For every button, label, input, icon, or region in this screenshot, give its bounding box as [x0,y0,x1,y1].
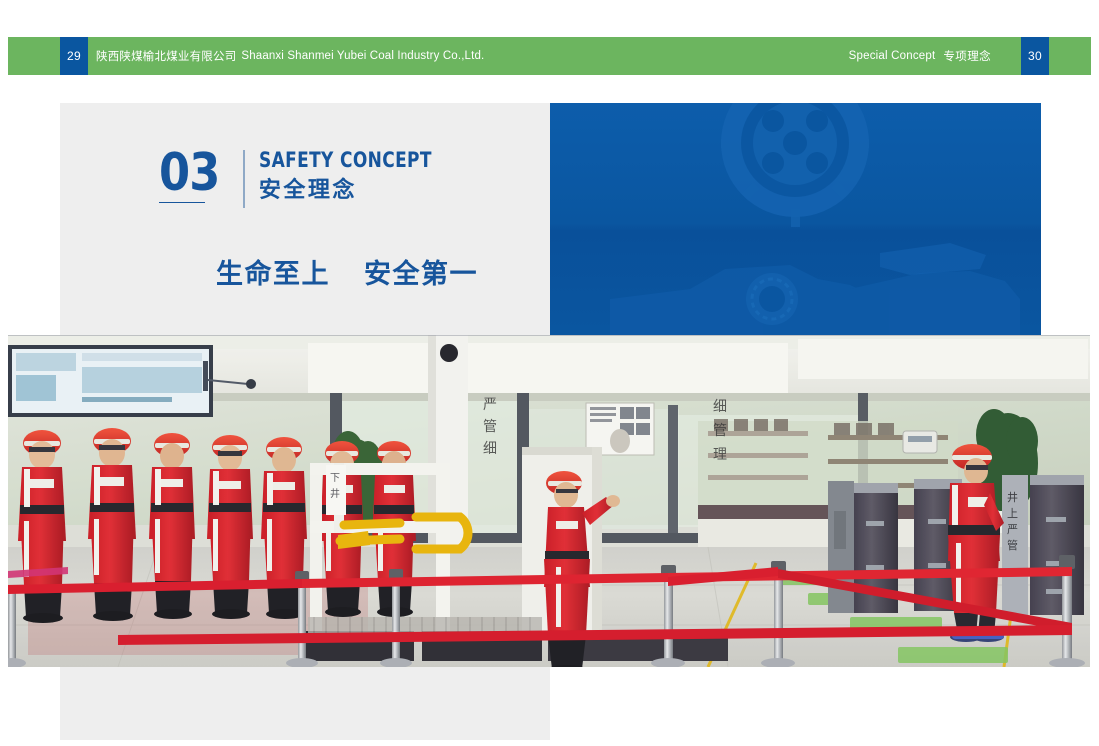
section-number: 03 [159,148,220,198]
header-company-name-en: Shaanxi Shanmei Yubei Coal Industry Co.,… [241,50,484,62]
section-title-texts: SAFETY CONCEPT 安全理念 [259,148,451,205]
brochure-page-spread: 29 陕西陕煤榆北煤业有限公司 Shaanxi Shanmei Yubei Co… [0,0,1099,746]
header-section-label-en: Special Concept [849,50,936,62]
page-folio-left: 29 [60,37,88,75]
running-header-band: 29 陕西陕煤榆北煤业有限公司 Shaanxi Shanmei Yubei Co… [8,37,1091,75]
section-title-group: 03 SAFETY CONCEPT 安全理念 [159,148,451,210]
slogan-part-2: 安全第一 [364,259,478,289]
mine-entrance-lobby-photo: 严 管 细 细 管 理 [8,335,1090,667]
section-title-cn: 安全理念 [259,175,451,205]
section-number-wrap: 03 [159,148,239,198]
safety-photograph: 严 管 细 细 管 理 [8,335,1090,667]
section-slogan: 生命至上 安全第一 [216,252,478,291]
header-company-name: 陕西陕煤榆北煤业有限公司 Shaanxi Shanmei Yubei Coal … [96,37,484,75]
section-title-divider [243,150,245,208]
mining-machine-gear-watermark [550,103,1041,335]
section-title-en: SAFETY CONCEPT [259,149,432,171]
header-section-label-cn: 专项理念 [943,48,991,64]
header-section-label: Special Concept 专项理念 [849,37,991,75]
header-company-name-cn: 陕西陕煤榆北煤业有限公司 [96,48,236,64]
section-number-underline [159,202,205,204]
page-folio-right: 30 [1021,37,1049,75]
right-blue-panel: 人的生命高于一切。把保护员工生命健康作为第一要务，保障员工合法权益，改善生产生活… [550,103,1041,335]
slogan-part-1: 生命至上 [216,259,330,289]
